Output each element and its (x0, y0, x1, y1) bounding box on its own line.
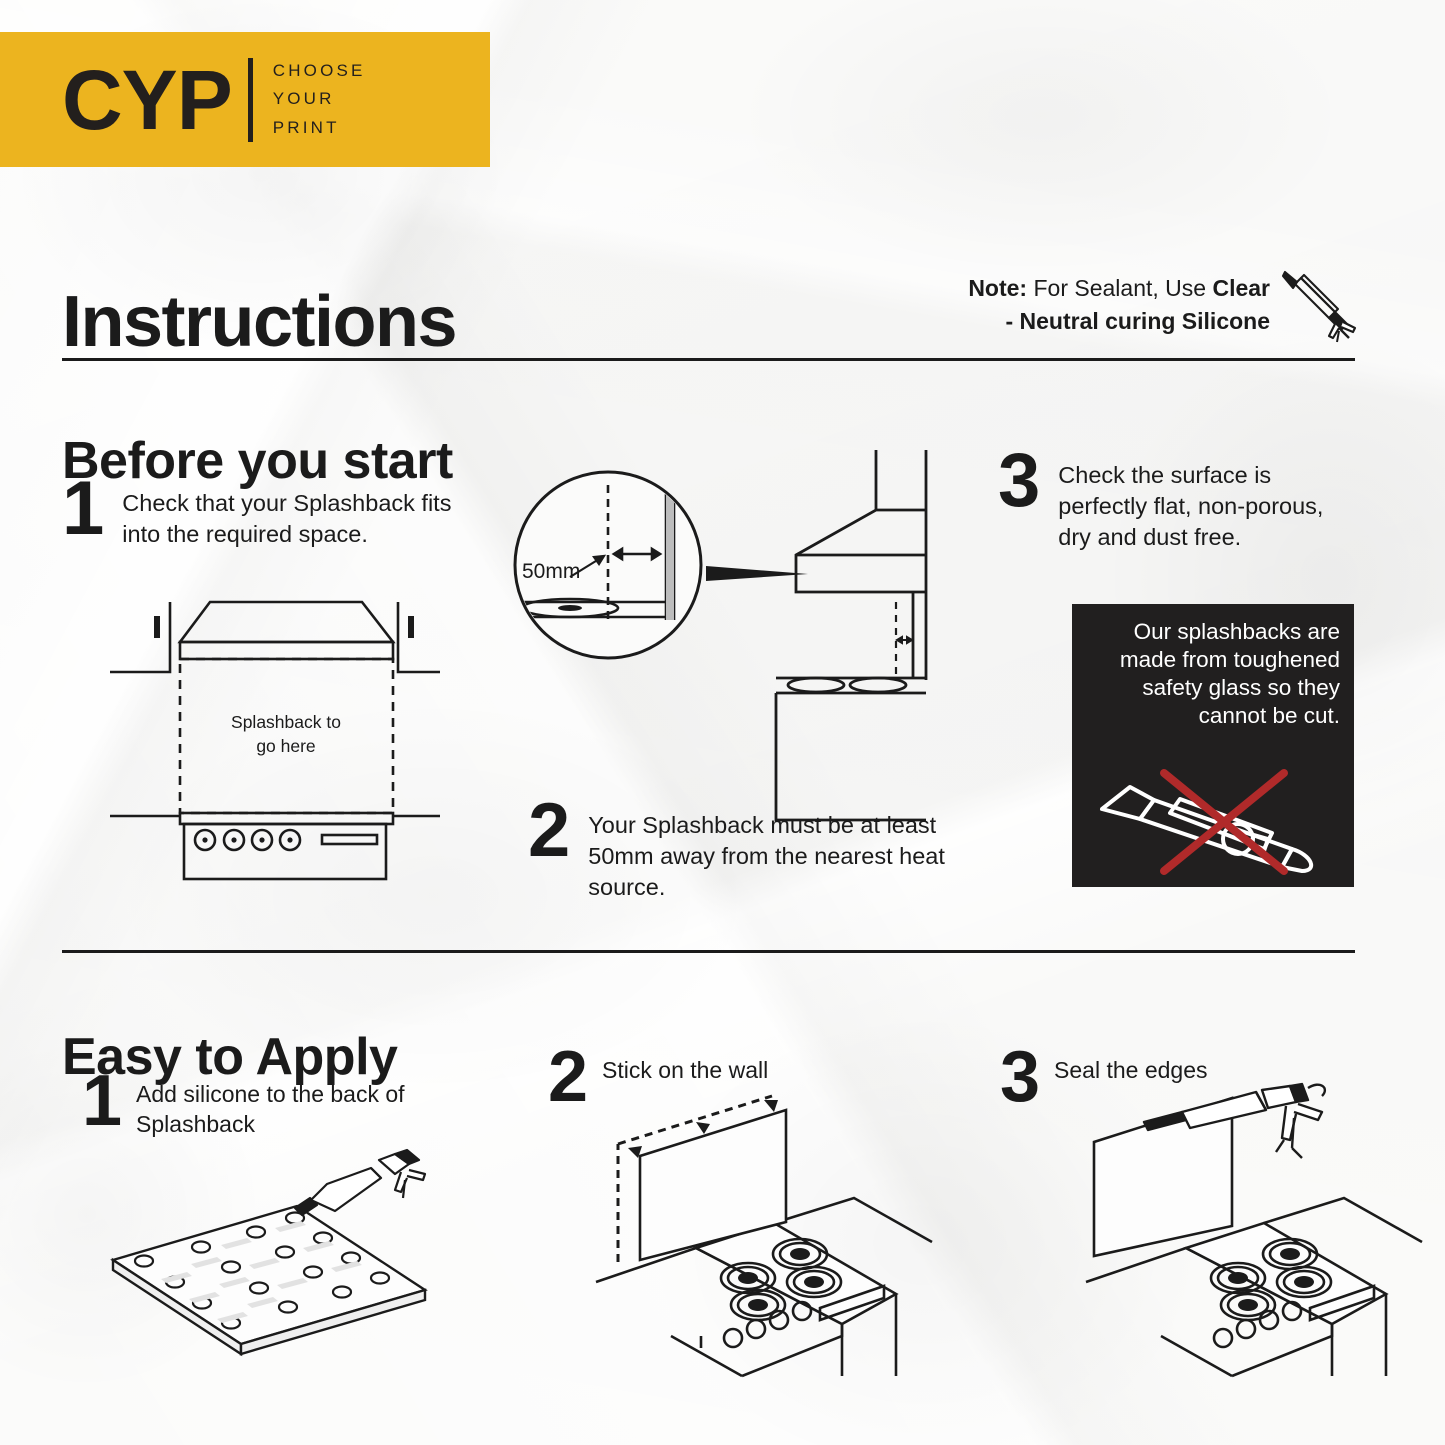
cabinet-left-line (671, 1336, 742, 1376)
brand-logo-band: CYP CHOOSE YOUR PRINT (0, 32, 490, 167)
base-cabinet (776, 693, 926, 820)
magnifier-pointer (706, 566, 808, 581)
step-number: 3 (1000, 1048, 1040, 1107)
step-text: Stick on the wall (602, 1048, 768, 1086)
hob-burner-side (850, 678, 906, 692)
sealant-note-line-2: - Neutral curing Silicone (850, 305, 1270, 338)
sealant-note-line-1: Note: For Sealant, Use Clear (850, 272, 1270, 305)
section-divider (62, 950, 1355, 953)
caulking-gun-icon (1277, 258, 1367, 348)
step-text: Seal the edges (1054, 1048, 1207, 1086)
hob-top (180, 813, 393, 824)
step-number: 1 (82, 1072, 122, 1131)
header-divider (62, 358, 1355, 361)
stick-on-wall-diagram (596, 1086, 936, 1376)
clearance-label: 50mm (522, 560, 580, 583)
step-text: Check that your Splashback fits into the… (122, 478, 462, 550)
knife-nose (1282, 849, 1311, 871)
sealant-note-body: For Sealant, Use (1027, 275, 1212, 301)
brand-tagline-line-1: CHOOSE (273, 57, 366, 85)
brand-logo: CYP CHOOSE YOUR PRINT (62, 32, 366, 167)
knife-blade-tip (1102, 787, 1154, 819)
splashback-placeholder-label-line1: Splashback to (231, 712, 341, 732)
hood-top (180, 602, 393, 642)
brand-divider-rule (248, 58, 253, 142)
step-text: Add silicone to the back of Splashback (136, 1072, 412, 1140)
instruction-sheet: CYP CHOOSE YOUR PRINT Instructions Note:… (0, 0, 1445, 1445)
cannot-be-cut-callout: Our splashbacks are made from toughened … (1072, 604, 1354, 887)
hob-knob-group (724, 1302, 811, 1347)
caulking-gun-icon (295, 1150, 425, 1215)
step-apply-1: 1 Add silicone to the back of Splashback (82, 1072, 412, 1140)
brand-tagline: CHOOSE YOUR PRINT (273, 57, 366, 141)
cannot-be-cut-text: Our splashbacks are made from toughened … (1086, 618, 1340, 731)
left-cabinet-handle (154, 616, 160, 638)
seal-edges-diagram (1086, 1086, 1426, 1376)
brand-mark-text: CYP (62, 58, 232, 142)
brand-tagline-line-2: YOUR (273, 85, 366, 113)
step-before-1: 1 Check that your Splashback fits into t… (62, 478, 462, 550)
brand-tagline-line-3: PRINT (273, 114, 366, 142)
step-text: Check the surface is perfectly flat, non… (1058, 450, 1328, 553)
heat-clearance-diagram: 50mm (508, 450, 1068, 830)
glass-panel-face (113, 1206, 425, 1344)
right-cabinet-outline (398, 602, 440, 672)
silicone-dots-diagram (95, 1148, 465, 1398)
step-number: 1 (62, 478, 104, 540)
sealant-note-label: Note: (968, 275, 1027, 301)
left-cabinet-outline (110, 602, 170, 672)
hob-knob-group (1214, 1302, 1301, 1347)
splashback-placeholder-label-line2: go here (256, 736, 315, 756)
page-title: Instructions (62, 286, 456, 358)
oven-handle (322, 835, 377, 844)
utility-knife-crossed-icon (1096, 767, 1336, 877)
step-number: 2 (548, 1048, 588, 1107)
splashback-fit-diagram: Splashback to go here (110, 588, 440, 888)
hob-burner-side (788, 678, 844, 692)
extractor-hood (796, 510, 926, 592)
hood-body (180, 642, 393, 659)
sealant-note-emphasis: Clear (1212, 275, 1270, 301)
cabinet-left-line (1161, 1336, 1232, 1376)
right-cabinet-handle (408, 616, 414, 638)
prohibition-cross (1164, 773, 1284, 871)
sealant-note: Note: For Sealant, Use Clear - Neutral c… (850, 272, 1270, 337)
